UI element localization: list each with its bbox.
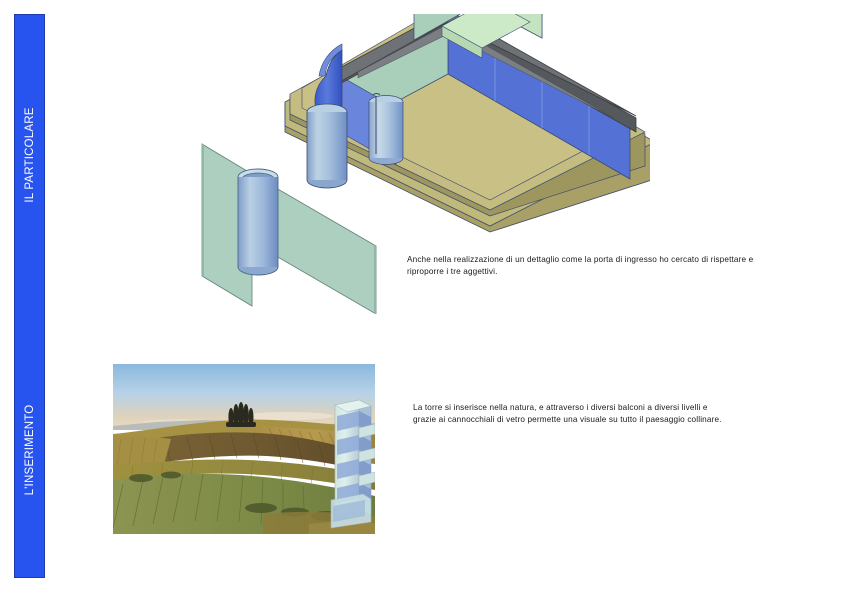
tower-render [331,400,375,528]
caption-landscape: La torre si inserisce nella natura, e at… [413,402,723,426]
sidebar-label-inserimento: L'INSERIMENTO [24,405,36,496]
caption-detail: Anche nella realizzazione di un dettagli… [407,254,757,278]
tuscan-landscape-svg [113,364,375,534]
sidebar-label-particolare: IL PARTICOLARE [24,107,36,202]
sidebar: IL PARTICOLARE L'INSERIMENTO [14,14,45,578]
landscape-photograph [113,364,375,534]
